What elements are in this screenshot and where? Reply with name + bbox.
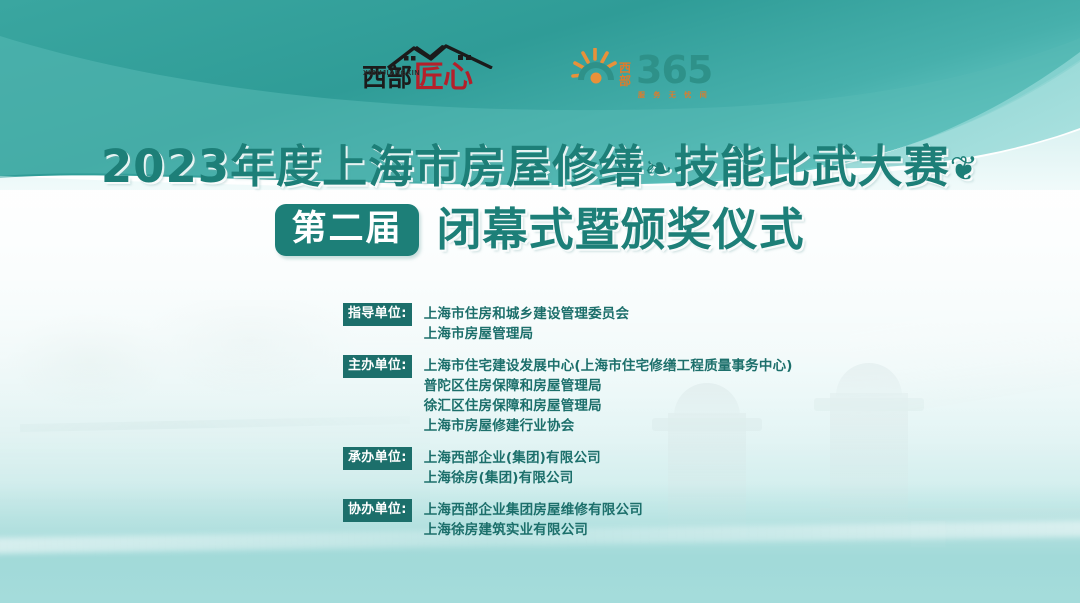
session-badge: 第二届 xyxy=(275,204,418,256)
org-lines: 上海市住宅建设发展中心(上海市住宅修缮工程质量事务中心) 普陀区住房保障和房屋管… xyxy=(424,355,793,436)
logo-row: 西部 匠心 XIBUJIANGXIN 西部 365 服 务 无 忧 xyxy=(0,42,1080,112)
org-line: 徐汇区住房保障和房屋管理局 xyxy=(424,396,793,416)
logo-small-cn: 西部 xyxy=(614,62,636,88)
swirl-ornament-tail-icon: ❦ xyxy=(950,149,980,189)
organization-row: 指导单位: 上海市住房和城乡建设管理委员会 上海市房屋管理局 xyxy=(343,303,983,344)
logo-mark-cn: 匠心 xyxy=(414,63,472,93)
title-block: 2023年度上海市房屋修缮❧技能比武大赛❦ 第二届 闭幕式暨颁奖仪式 xyxy=(0,140,1080,256)
org-label-badge: 协办单位: xyxy=(343,499,412,522)
logo-brand-cn: 西部 xyxy=(362,65,412,91)
organization-row: 承办单位: 上海西部企业(集团)有限公司 上海徐房(集团)有限公司 xyxy=(343,447,983,488)
org-lines: 上海西部企业(集团)有限公司 上海徐房(集团)有限公司 xyxy=(424,447,601,488)
org-line: 上海市住宅建设发展中心(上海市住宅修缮工程质量事务中心) xyxy=(424,356,793,376)
org-lines: 上海西部企业集团房屋维修有限公司 上海徐房建筑实业有限公司 xyxy=(424,499,643,540)
org-label-badge: 承办单位: xyxy=(343,447,412,470)
org-line: 上海徐房建筑实业有限公司 xyxy=(424,520,643,540)
logo-xibujiangxin: 西部 匠心 XIBUJIANGXIN xyxy=(362,43,512,111)
org-line: 上海西部企业(集团)有限公司 xyxy=(424,448,601,468)
organization-list: 指导单位: 上海市住房和城乡建设管理委员会 上海市房屋管理局 主办单位: 上海市… xyxy=(343,303,983,551)
org-label-badge: 主办单位: xyxy=(343,355,412,378)
ceremony-title: 闭幕式暨颁奖仪式 xyxy=(437,204,805,256)
org-line: 上海市房屋修建行业协会 xyxy=(424,416,793,436)
organization-row: 主办单位: 上海市住宅建设发展中心(上海市住宅修缮工程质量事务中心) 普陀区住房… xyxy=(343,355,983,436)
org-line: 上海西部企业集团房屋维修有限公司 xyxy=(424,500,643,520)
org-line: 上海市房屋管理局 xyxy=(424,324,630,344)
title-line-2: 第二届 闭幕式暨颁奖仪式 xyxy=(0,204,1080,256)
title-line-1-suffix: 技能比武大赛 xyxy=(674,140,950,193)
logo-number: 365 xyxy=(636,50,712,90)
title-line-1-prefix: 2023年度上海市房屋修缮 xyxy=(101,140,644,193)
swirl-ornament-icon: ❧ xyxy=(644,149,674,189)
event-poster: 西部 匠心 XIBUJIANGXIN 西部 365 服 务 无 忧 xyxy=(0,0,1080,603)
title-line-1: 2023年度上海市房屋修缮❧技能比武大赛❦ xyxy=(0,140,1080,196)
org-line: 上海徐房(集团)有限公司 xyxy=(424,468,601,488)
logo-slogan: 服 务 无 忧 间 xyxy=(638,90,710,100)
organization-row: 协办单位: 上海西部企业集团房屋维修有限公司 上海徐房建筑实业有限公司 xyxy=(343,499,983,540)
org-line: 普陀区住房保障和房屋管理局 xyxy=(424,376,793,396)
logo-xibu365: 西部 365 服 务 无 忧 间 xyxy=(570,46,718,108)
org-line: 上海市住房和城乡建设管理委员会 xyxy=(424,304,630,324)
org-label-badge: 指导单位: xyxy=(343,303,412,326)
org-lines: 上海市住房和城乡建设管理委员会 上海市房屋管理局 xyxy=(424,303,630,344)
logo-pinyin: XIBUJIANGXIN xyxy=(363,70,420,77)
